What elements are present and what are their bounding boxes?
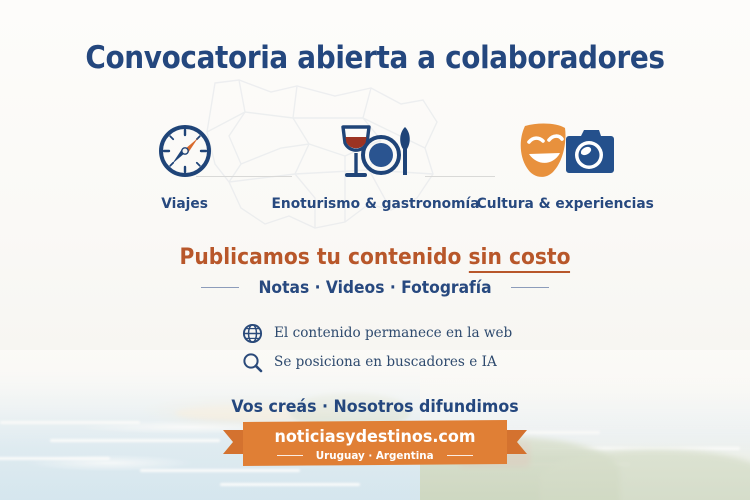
page-title: Convocatoria abierta a colaboradores	[38, 40, 713, 76]
category-row: Viajes Enoturismo & gastronomía	[0, 118, 750, 228]
countries-label: Uruguay · Argentina	[316, 449, 434, 462]
formats-rule-right	[511, 287, 549, 289]
free-publish-headline: Publicamos tu contenido sin costo	[30, 245, 720, 270]
category-enoturismo: Enoturismo & gastronomía	[280, 118, 470, 212]
formats-rule-left	[201, 287, 239, 289]
countries-rule-left	[277, 455, 303, 456]
benefit-text: Se posiciona en buscadores e IA	[274, 354, 497, 370]
globe-icon	[241, 322, 263, 344]
formats-row: Notas · Videos · Fotografía	[0, 278, 750, 297]
brand-ribbon[interactable]: noticiasydestinos.com Uruguay · Argentin…	[225, 420, 525, 466]
theater-mask-camera-icon	[513, 118, 617, 184]
free-publish-emphasis: sin costo	[469, 245, 571, 273]
category-label: Viajes	[162, 196, 209, 212]
promo-poster: Convocatoria abierta a colaboradores	[0, 0, 750, 500]
category-label: Cultura & experiencias	[476, 196, 653, 212]
benefits-list: El contenido permanece en la web Se posi…	[0, 322, 750, 373]
brand-ribbon-wrap: noticiasydestinos.com Uruguay · Argentin…	[0, 420, 750, 466]
wine-plate-knife-icon	[327, 118, 423, 184]
benefit-item: El contenido permanece en la web	[241, 322, 509, 344]
countries-row: Uruguay · Argentina	[225, 449, 525, 462]
compass-icon	[154, 118, 216, 184]
countries-rule-right	[447, 455, 473, 456]
tagline: Vos creás · Nosotros difundimos	[26, 397, 724, 417]
formats-label: Notas · Videos · Fotografía	[258, 278, 491, 297]
free-publish-lead: Publicamos tu contenido	[180, 245, 469, 270]
category-label: Enoturismo & gastronomía	[271, 196, 479, 212]
site-url[interactable]: noticiasydestinos.com	[234, 427, 516, 447]
category-viajes: Viajes	[90, 118, 280, 212]
benefit-text: El contenido permanece en la web	[274, 325, 512, 341]
category-cultura: Cultura & experiencias	[470, 118, 660, 212]
benefit-item: Se posiciona en buscadores e IA	[241, 351, 509, 373]
search-icon	[241, 351, 263, 373]
